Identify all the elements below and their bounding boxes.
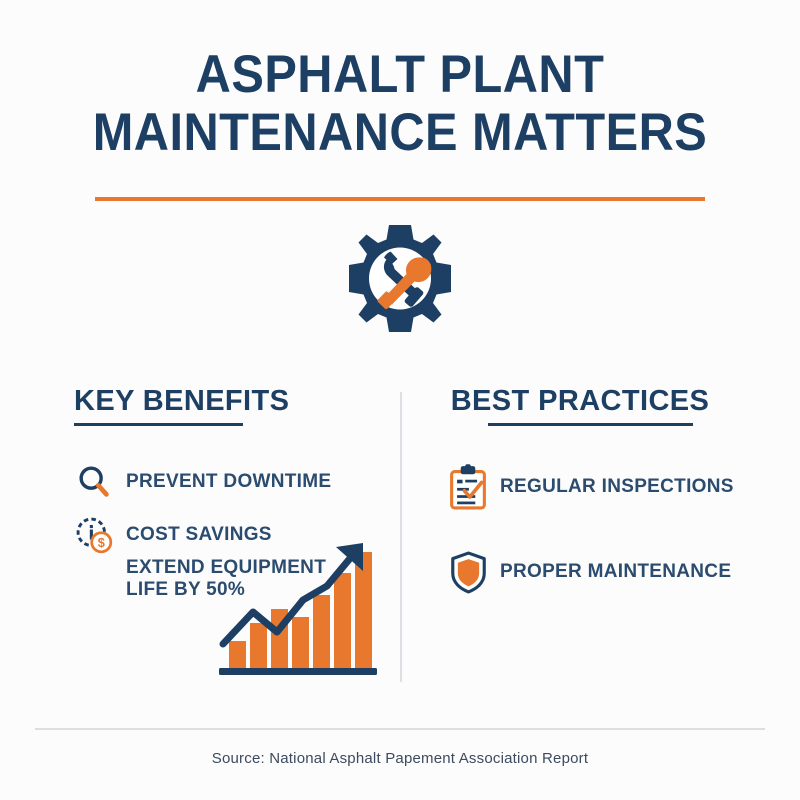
key-benefits-heading: KEY BENEFITS	[74, 385, 390, 417]
best-practices-heading: BEST PRACTICES	[420, 385, 740, 417]
list-item-label: PREVENT DOWNTIME	[126, 471, 331, 493]
list-item-regular-inspections[interactable]: REGULAR INSPECTIONS	[448, 465, 734, 509]
infographic-canvas: ASPHALT PLANT MAINTENANCE MATTERS	[0, 0, 800, 800]
title-accent-rule	[95, 197, 705, 201]
growth-bar-chart	[215, 538, 380, 678]
svg-text:$: $	[98, 535, 105, 550]
title-line-2: MAINTENANCE MATTERS	[32, 104, 768, 162]
shield-icon	[448, 550, 488, 594]
page-title: ASPHALT PLANT MAINTENANCE MATTERS	[0, 46, 800, 162]
key-benefits-underline	[74, 423, 243, 426]
source-caption: Source: National Asphalt Papement Associ…	[0, 750, 800, 767]
footer-divider	[35, 728, 765, 730]
key-benefits-column: KEY BENEFITS PREVENT DOWNTIME $	[60, 385, 390, 426]
clock-dollar-icon: $	[74, 513, 114, 557]
gear-wrench-icon	[337, 221, 463, 347]
title-line-1: ASPHALT PLANT	[32, 46, 768, 104]
column-divider	[400, 392, 402, 682]
magnifier-icon	[74, 460, 114, 504]
list-item-label: PROPER MAINTENANCE	[500, 561, 731, 583]
clipboard-check-icon	[448, 465, 488, 509]
list-item-proper-maintenance[interactable]: PROPER MAINTENANCE	[448, 550, 731, 594]
best-practices-column: BEST PRACTICES REGULAR INSPECTIONS	[420, 385, 740, 426]
best-practices-underline	[488, 423, 693, 426]
list-item-prevent-downtime[interactable]: PREVENT DOWNTIME	[74, 460, 331, 504]
list-item-label: REGULAR INSPECTIONS	[500, 476, 734, 498]
